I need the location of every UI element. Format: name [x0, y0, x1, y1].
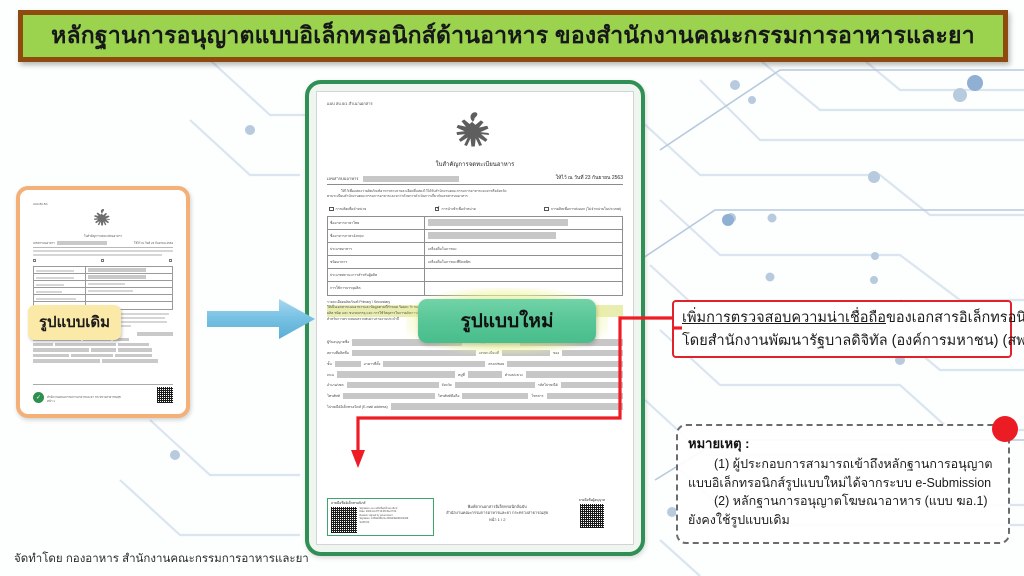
table-row: ชื่ออาหารภาษาไทย [328, 217, 622, 230]
old-doc-reg-label: เลขสารบบอาหาร [33, 241, 55, 245]
table-row [34, 267, 172, 274]
old-document-page: แบบ สบ.5/1 ใบสำคัญการจดทะเบียนอาหาร เลขส… [26, 196, 180, 408]
table-row: ประเภทสถานะการสำหรับผู้ผลิต [328, 269, 622, 282]
table-row [34, 281, 172, 288]
notes-line-3: (2) หลักฐานการอนุญาตโฆษณาอาหาร (แบบ ฆอ.1… [688, 492, 998, 511]
callout-line-1-rest: ของเอกสารอิเล็กทรอนิกส์ [886, 310, 1024, 326]
checkbox-checked-icon[interactable] [435, 207, 440, 212]
fda-logo-icon: ✓ [33, 392, 44, 403]
redaction-bar [428, 219, 568, 226]
old-format-label: รูปแบบเดิม [28, 305, 121, 340]
page-title: หลักฐานการอนุญาตแบบอิเล็กทรอนิกส์ด้านอาห… [51, 18, 975, 54]
notes-line-4: ยังคงใช้รูปแบบเดิม [688, 511, 998, 530]
transition-arrow-icon [205, 295, 317, 343]
row-label: ชื่ออาหารภาษาไทย [328, 217, 425, 229]
row-label: ประเภทสถานะการสำหรับผู้ผลิต [328, 269, 425, 281]
old-doc-table [33, 266, 173, 310]
checkbox-label: การนำเข้าเพื่อจำหน่าย [441, 206, 475, 212]
title-banner: หลักฐานการอนุญาตแบบอิเล็กทรอนิกส์ด้านอาห… [18, 10, 1008, 62]
red-callout-box: เพิ่มการตรวจสอบความน่าเชื่อถือของเอกสารอ… [672, 300, 1012, 358]
divider [33, 247, 173, 248]
row-label: ชนิดอาหาร [328, 256, 425, 268]
reg-number-redaction [363, 176, 459, 182]
checkbox-produce-for-sale[interactable]: การผลิตเพื่อจำหน่าย [329, 206, 366, 212]
table-row [34, 295, 172, 302]
notes-heading: หมายเหตุ : [688, 433, 998, 454]
notes-line-2: แบบอิเล็กทรอนิกส์รูปแบบใหม่ได้จากระบบ e-… [688, 474, 998, 493]
row-label: ชื่ออาหารภาษาอังกฤษ [328, 230, 425, 242]
checkbox-icon[interactable] [544, 207, 549, 212]
notes-box: หมายเหตุ : (1) ผู้ประกอบการสามารถเข้าถึง… [676, 424, 1010, 544]
page-number: หน้า 1 / 2 [434, 517, 561, 524]
qr-code-icon [331, 507, 357, 533]
row-value: เครื่องดื่มในภาชนะที่ปิดสนิท [425, 256, 622, 268]
callout-line-2: โดยสำนักงานพัฒนารัฐบาลดิจิทัล (องค์การมห… [682, 330, 1002, 353]
checkbox-label: การผลิตเพื่อการส่งออก (ไม่จำหน่ายในประเท… [551, 206, 621, 212]
table-row: ชื่ออาหารภาษาอังกฤษ [328, 230, 622, 243]
issue-date: ให้ไว้ ณ วันที่ 23 กันยายน 2563 [556, 174, 623, 182]
row-value [425, 217, 622, 229]
red-connector-lines [330, 300, 690, 510]
slide-footer: จัดทำโดย กองอาหาร สำนักงานคณะกรรมการอาหา… [14, 550, 309, 568]
row-value [425, 230, 622, 242]
checkbox-icon[interactable] [329, 207, 334, 212]
print-line-2: สำนักงานคณะกรรมการอาหารและยา กระทรวงสาธา… [434, 510, 561, 517]
new-doc-form-tag: แบบ สบ.5/1 สำเนาเอกสาร [327, 100, 623, 107]
garuda-emblem-icon [33, 208, 173, 231]
checkbox-produce-for-export[interactable]: การผลิตเพื่อการส่งออก (ไม่จำหน่ายในประเท… [544, 206, 621, 212]
table-row [34, 288, 172, 295]
row-label: ประเภทอาหาร [328, 243, 425, 255]
purpose-checkbox-row: การผลิตเพื่อจำหน่าย การนำเข้าเพื่อจำหน่า… [329, 206, 621, 212]
row-value [425, 269, 622, 281]
old-doc-title: ใบสำคัญการจดทะเบียนอาหาร [33, 234, 173, 238]
old-doc-checkbox-row [33, 259, 173, 263]
garuda-emblem-icon [327, 110, 623, 157]
callout-underlined-phrase: เพิ่มการตรวจสอบความน่าเชื่อถือ [682, 310, 886, 326]
checkbox-label: การผลิตเพื่อจำหน่าย [336, 206, 367, 212]
new-doc-paragraph-2: ตามระเบียบสำนักงานคณะกรรมการอาหารและยาว่… [327, 194, 623, 199]
old-doc-reg-redaction [57, 241, 107, 245]
table-row: ประเภทอาหาร เครื่องดื่มในภาชนะ [328, 243, 622, 256]
callout-line-1: เพิ่มการตรวจสอบความน่าเชื่อถือของเอกสารอ… [682, 307, 1002, 330]
divider [327, 184, 623, 185]
reg-number-label: เลขสารบบอาหาร [327, 175, 359, 182]
old-doc-date: ให้ไว้ ณ วันที่ 23 กันยายน 2563 [134, 241, 173, 245]
product-detail-table: ชื่ออาหารภาษาไทย ชื่ออาหารภาษาอังกฤษ ประ… [327, 216, 623, 296]
registration-line: เลขสารบบอาหาร ให้ไว้ ณ วันที่ 23 กันยายน… [327, 174, 623, 182]
table-row: ชนิดอาหาร เครื่องดื่มในภาชนะที่ปิดสนิท [328, 256, 622, 269]
row-value: เครื่องดื่มในภาชนะ [425, 243, 622, 255]
checkbox-import-for-sale[interactable]: การนำเข้าเพื่อจำหน่าย [435, 206, 476, 212]
old-doc-footer: ✓ สำนักงานคณะกรรมการอาหารและยา กระทรวงสา… [33, 384, 173, 403]
notes-line-1: (1) ผู้ประกอบการสามารถเข้าถึงหลักฐานการอ… [688, 455, 998, 474]
slide-canvas: หลักฐานการอนุญาตแบบอิเล็กทรอนิกส์ด้านอาห… [0, 0, 1024, 576]
qr-code-icon [157, 387, 173, 403]
old-doc-page-no: หน้า 1 [47, 399, 154, 403]
redaction-bar [428, 232, 556, 239]
new-doc-title: ใบสำคัญการจดทะเบียนอาหาร [327, 159, 623, 169]
red-dot-icon [992, 416, 1018, 442]
table-row [34, 274, 172, 281]
old-doc-form-tag: แบบ สบ.5/1 [33, 202, 173, 206]
signature-meta-line: SAPCO2 [360, 521, 409, 524]
old-document-thumbnail[interactable]: แบบ สบ.5/1 ใบสำคัญการจดทะเบียนอาหาร เลขส… [16, 186, 190, 418]
